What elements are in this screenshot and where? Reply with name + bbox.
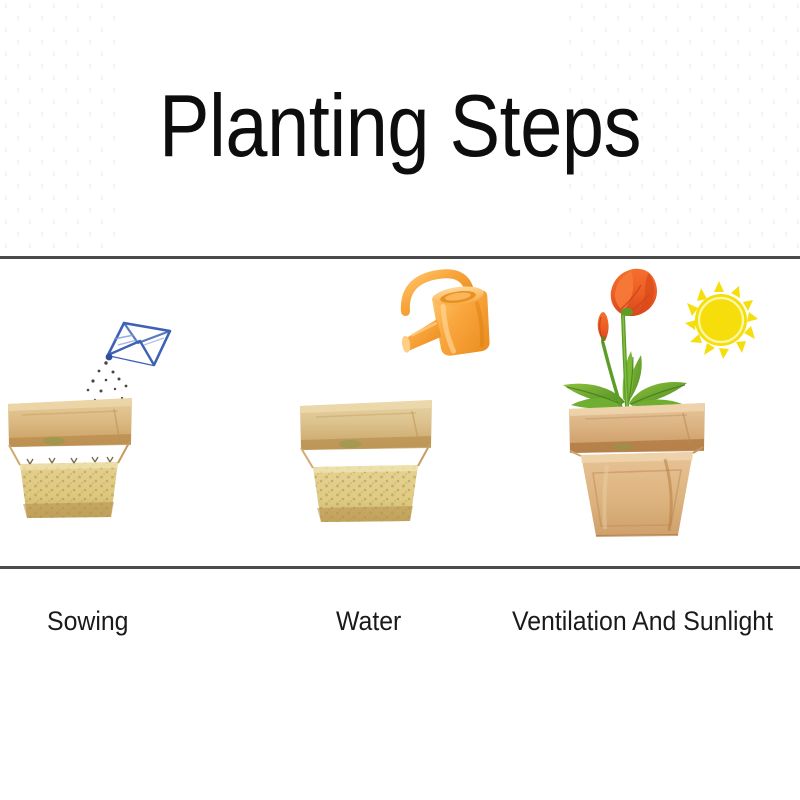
plant-pot-rim [569, 403, 705, 453]
plant-leaves [563, 315, 687, 410]
caption-row: Sowing Water Ventilation And Sunlight [0, 569, 800, 689]
step-3-illustration [545, 259, 800, 566]
plant-pot-body [313, 465, 418, 522]
step-2-illustration [280, 259, 545, 566]
plant-pot-rim [300, 400, 432, 450]
caption-step-3: Ventilation And Sunlight [512, 605, 773, 637]
plant-pot-body [20, 457, 118, 518]
seed-packet-icon [106, 323, 170, 365]
poppy-flower [611, 269, 657, 316]
planting-steps-infographic: Planting Steps [0, 0, 800, 800]
sun-icon [685, 281, 758, 359]
caption-step-2: Water [336, 605, 401, 637]
plant-pot-body [581, 452, 693, 536]
caption-step-1: Sowing [47, 605, 128, 637]
plant-pot-rim [8, 398, 132, 447]
page-title: Planting Steps [56, 78, 744, 174]
flower-bud [598, 312, 609, 343]
watering-can-icon [393, 268, 495, 362]
illustration-stage [0, 259, 800, 566]
step-1-illustration [0, 259, 280, 566]
falling-seeds [87, 361, 128, 402]
